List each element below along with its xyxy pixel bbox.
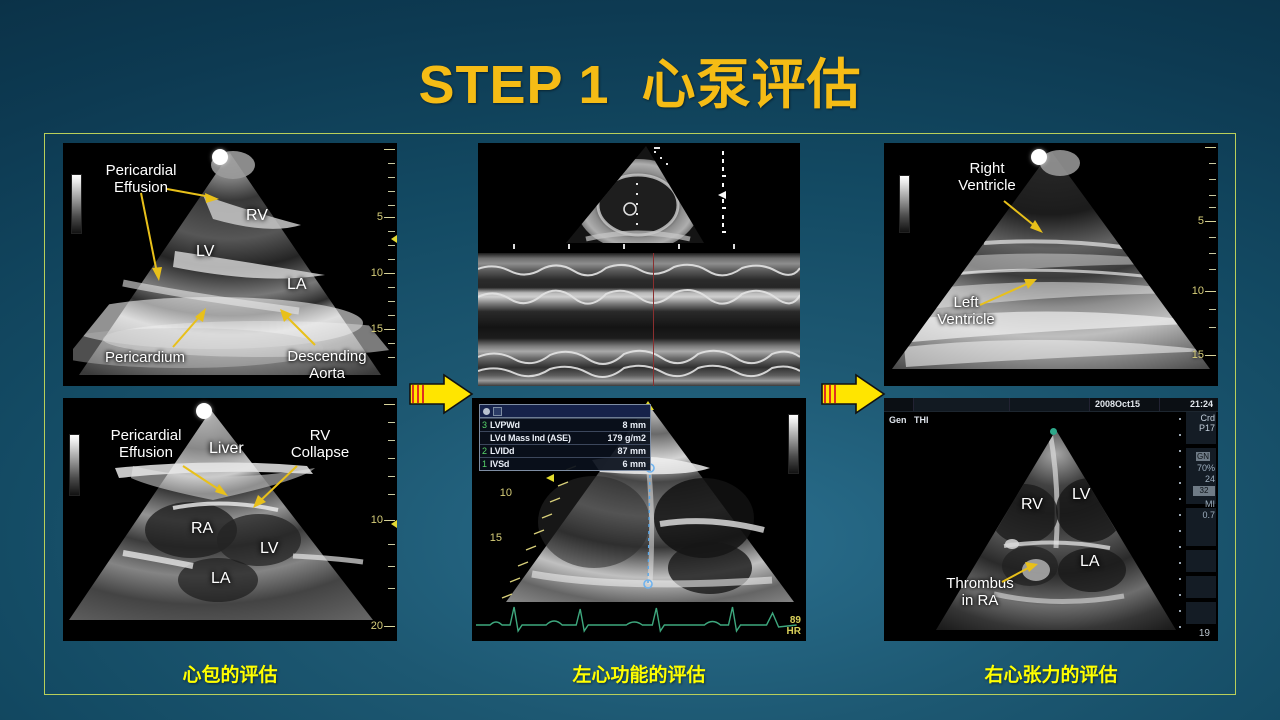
grayscale-gain-bar: [788, 414, 799, 474]
label-liver: Liver: [209, 440, 244, 458]
orientation-marker-dot: [1050, 428, 1057, 435]
depth-tick-column: [1179, 414, 1182, 640]
depth-scale: 5 10 15: [1192, 143, 1218, 386]
measurement-name: LVIDd: [490, 446, 617, 456]
caption-pericardium-assessment: 心包的评估: [63, 660, 397, 687]
depth-tick-10: 10: [371, 514, 383, 526]
probe-marker-dot: [196, 403, 212, 419]
mmode-wall-motion-curves: [478, 253, 800, 386]
measurement-index: 3: [482, 420, 490, 430]
ultrasound-panel-ra-thrombus[interactable]: 2008Oct15 21:24 Gen THI: [884, 398, 1218, 641]
measurement-name: LVd Mass Ind (ASE): [490, 433, 607, 443]
depth-value: 24: [1205, 475, 1215, 485]
depth-tick-10: 10: [1192, 285, 1204, 297]
measurement-value: 6 mm: [622, 459, 646, 469]
label-rv: RV: [1021, 496, 1043, 514]
ultrasound-sector-image: [884, 143, 1218, 386]
depth-scale: 10 20: [371, 398, 397, 641]
record-dot-icon: [483, 408, 490, 415]
ultrasound-panel-pericardial-effusion[interactable]: 5 10 15 Pericardial Effusion RV LV LA Pe…: [63, 143, 397, 386]
label-rv: RV: [246, 207, 268, 225]
caption-lv-function-assessment: 左心功能的评估: [472, 660, 806, 687]
label-la: LA: [211, 570, 231, 588]
label-la: LA: [1080, 553, 1100, 571]
focus-value: 32: [1200, 486, 1209, 495]
measurement-name: IVSd: [490, 459, 622, 469]
label-lv: LV: [1072, 486, 1090, 504]
machine-side-panel[interactable]: Crd P17 GN 70% 24 32 MI 0.7: [1184, 412, 1218, 641]
grayscale-gain-bar: [71, 174, 82, 234]
label-lv: LV: [196, 243, 214, 261]
grayscale-gain-bar: [69, 434, 80, 496]
grayscale-gain-bar: [899, 175, 910, 233]
ultrasound-sector-image: [63, 398, 397, 641]
depth-tick-15: 15: [371, 323, 383, 335]
gain-value: 70%: [1197, 464, 1215, 474]
ultrasound-panel-rv-collapse[interactable]: 10 20 Pericardial Effusion Liver RV Coll…: [63, 398, 397, 641]
ultrasound-panel-mmode[interactable]: [478, 143, 800, 386]
flow-arrow-1: [406, 372, 476, 416]
probe-id: Crd P17: [1199, 414, 1215, 433]
measurement-value: 8 mm: [622, 420, 646, 430]
ultrasound-sector-image: [63, 143, 397, 386]
flow-arrow-2: [818, 372, 888, 416]
measurement-row: 3 LVPWd 8 mm: [480, 418, 650, 431]
measurement-row: LVd Mass Ind (ASE) 179 g/m2: [480, 431, 650, 444]
measurement-table[interactable]: 3 LVPWd 8 mm LVd Mass Ind (ASE) 179 g/m2…: [479, 404, 651, 471]
label-lv: LV: [260, 540, 278, 558]
probe-marker-dot: [212, 149, 228, 165]
depth-tick-10: 10: [371, 267, 383, 279]
measurement-value: 179 g/m2: [607, 433, 646, 443]
ultrasound-panel-rv-dilation[interactable]: 5 10 15 Right Ventricle Left Ventricle: [884, 143, 1218, 386]
table-icon: [493, 407, 502, 416]
mmode-reference-2d-image: [478, 143, 800, 250]
measurement-index: 1: [482, 459, 490, 469]
label-la: LA: [287, 276, 307, 294]
ultrasound-panel-lv-function[interactable]: 10 15 3 LVPWd 8 mm LVd Mass Ind (ASE) 17…: [472, 398, 806, 641]
frame-number: 19: [1199, 628, 1210, 639]
depth-tick-15: 15: [1192, 349, 1204, 361]
depth-tick-5: 5: [377, 211, 383, 223]
caption-rv-strain-assessment: 右心张力的评估: [884, 660, 1218, 687]
depth-scale: 5 10 15: [371, 143, 397, 386]
measurement-row: 1 IVSd 6 mm: [480, 457, 650, 470]
measurement-name: LVPWd: [490, 420, 622, 430]
label-ra: RA: [191, 520, 213, 538]
mi-label: MI: [1205, 500, 1215, 510]
measurement-table-header[interactable]: [480, 405, 650, 418]
mmode-cursor-line: [653, 253, 654, 386]
page-title: STEP 1 心泵评估: [0, 40, 1280, 119]
ecg-trace: [476, 597, 797, 637]
probe-marker-dot: [1031, 149, 1047, 165]
depth-tick-5: 5: [1198, 215, 1204, 227]
gain-selected-icon: GN: [1196, 452, 1210, 461]
focus-value-highlight: 32: [1193, 486, 1215, 496]
depth-tick-20: 20: [371, 620, 383, 632]
measurement-index: 2: [482, 446, 490, 456]
mi-value: 0.7: [1202, 511, 1215, 521]
heart-rate-readout: 89 HR: [787, 616, 801, 637]
measurement-row: 2 LVIDd 87 mm: [480, 444, 650, 457]
measurement-value: 87 mm: [617, 446, 646, 456]
